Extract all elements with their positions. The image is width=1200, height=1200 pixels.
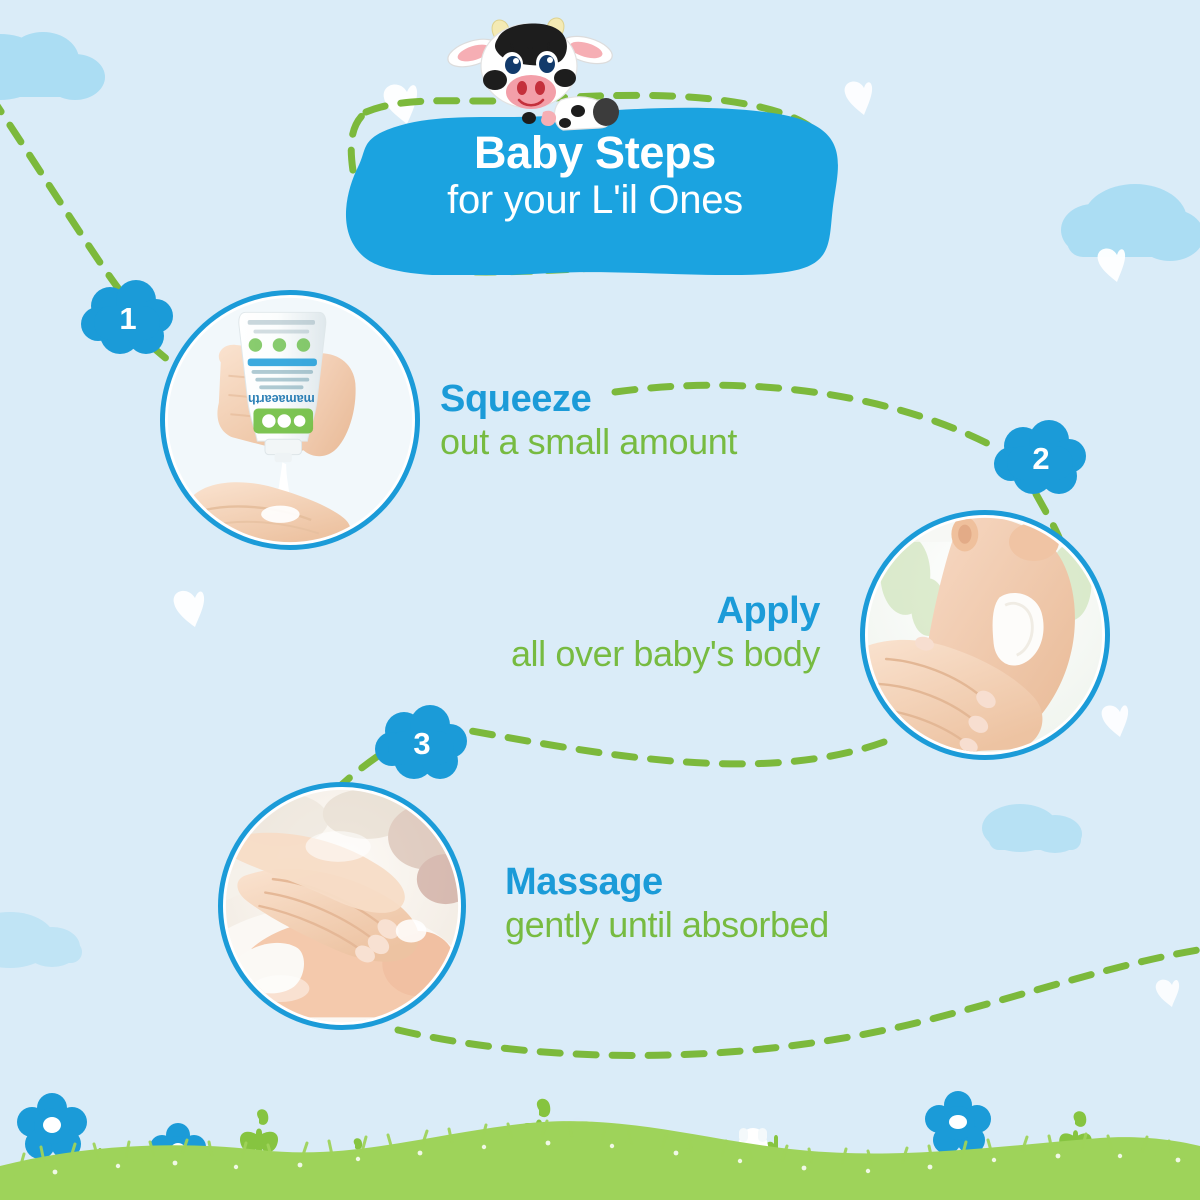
step-1-keyword: Squeeze — [440, 380, 737, 420]
svg-text:mamaearth: mamaearth — [248, 392, 315, 406]
step-3-description: gently until absorbed — [505, 906, 829, 944]
step-1-badge: 1 — [80, 280, 176, 360]
step-3-caption: Massage gently until absorbed — [505, 863, 829, 944]
step-3-badge: 3 — [374, 705, 470, 785]
step-2-photo — [860, 510, 1110, 760]
squeeze-illustration: mamaearth — [165, 295, 415, 545]
step-2-number: 2 — [993, 420, 1089, 500]
infographic-poster: Baby Steps for your L'il Ones — [0, 0, 1200, 1200]
banner-title-line2: for your L'il Ones — [340, 179, 850, 221]
step-1-caption: Squeeze out a small amount — [440, 380, 737, 461]
step-1-description: out a small amount — [440, 423, 737, 461]
step-3-keyword: Massage — [505, 863, 829, 903]
cow-mascot-icon — [443, 8, 623, 133]
apply-illustration — [865, 515, 1105, 755]
banner-title-line1: Baby Steps — [340, 129, 850, 177]
step-2-description: all over baby's body — [455, 635, 820, 673]
step-2-caption: Apply all over baby's body — [455, 592, 820, 673]
step-1-number: 1 — [80, 280, 176, 360]
step-1-photo: mamaearth — [160, 290, 420, 550]
step-3-number: 3 — [374, 705, 470, 785]
step-2-keyword: Apply — [455, 592, 820, 632]
massage-illustration — [223, 787, 461, 1025]
step-3-photo — [218, 782, 466, 1030]
banner-text-group: Baby Steps for your L'il Ones — [340, 129, 850, 221]
step-2-badge: 2 — [993, 420, 1089, 500]
